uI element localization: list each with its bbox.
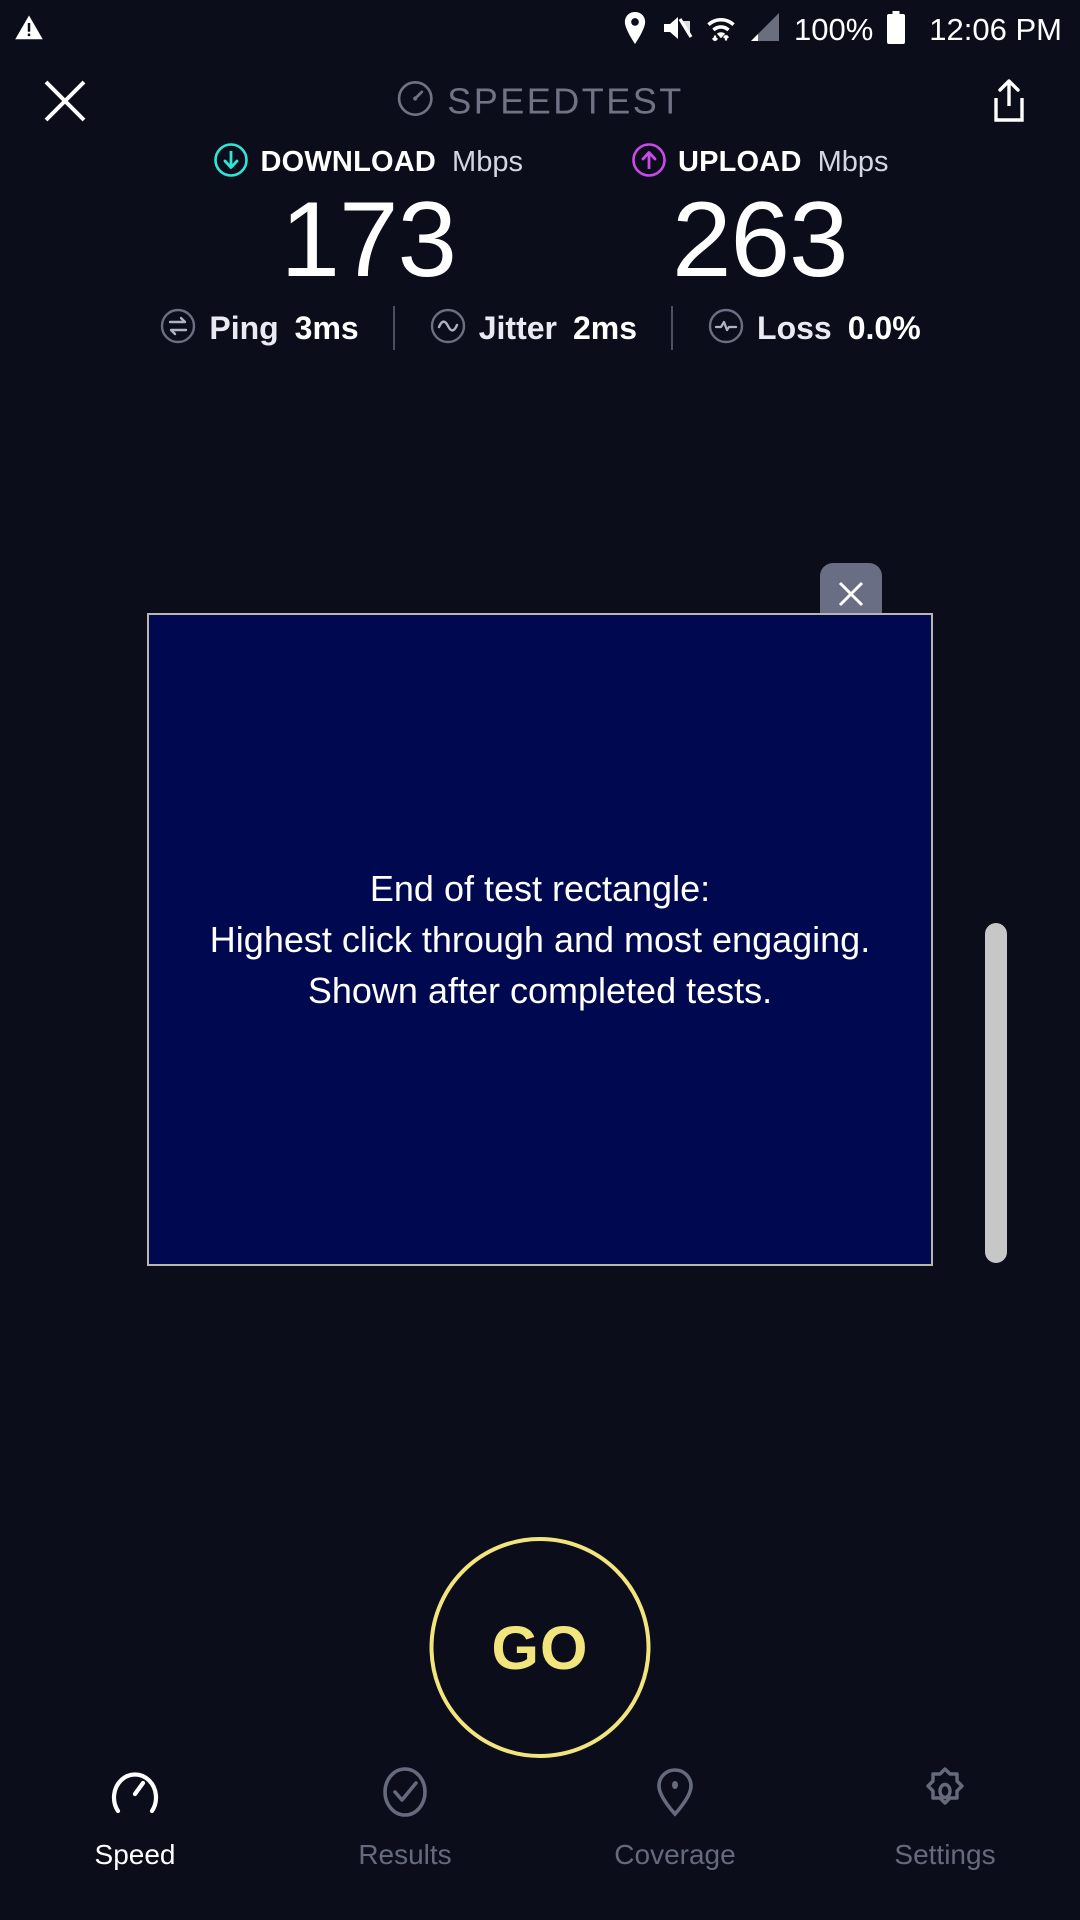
upload-arrow-icon xyxy=(631,142,667,183)
ad-banner[interactable]: End of test rectangle: Highest click thr… xyxy=(147,613,933,1266)
status-bar-left xyxy=(14,13,44,48)
download-unit: Mbps xyxy=(452,146,523,179)
download-result: DOWNLOAD Mbps 173 xyxy=(213,142,523,294)
loss-metric: Loss 0.0% xyxy=(673,307,955,350)
battery-full-icon xyxy=(886,11,906,50)
close-icon xyxy=(42,78,88,124)
network-metrics-row: Ping 3ms Jitter 2ms xyxy=(0,306,1080,350)
app-title-group: SPEEDTEST xyxy=(396,80,684,123)
nav-label-coverage: Coverage xyxy=(614,1839,735,1871)
wifi-icon xyxy=(706,12,736,49)
location-pin-icon xyxy=(622,12,648,49)
nav-item-coverage[interactable]: Coverage xyxy=(540,1764,810,1871)
nav-item-speed[interactable]: Speed xyxy=(0,1764,270,1871)
status-bar: 100% 12:06 PM xyxy=(0,0,1080,60)
page-title: SPEEDTEST xyxy=(447,80,684,122)
loss-label: Loss xyxy=(757,310,832,347)
close-icon xyxy=(834,577,868,611)
gear-icon xyxy=(917,1764,973,1825)
go-button-label: GO xyxy=(492,1613,589,1683)
speedometer-icon xyxy=(396,80,434,123)
location-pin-icon xyxy=(647,1764,703,1825)
scrollbar[interactable] xyxy=(985,923,1007,1263)
results-panel: DOWNLOAD Mbps 173 UPLOAD Mbps xyxy=(0,142,1080,350)
download-header: DOWNLOAD Mbps xyxy=(213,142,523,183)
nav-label-settings: Settings xyxy=(894,1839,995,1871)
status-bar-right: 100% 12:06 PM xyxy=(622,11,1062,50)
cellular-signal-icon xyxy=(749,12,781,48)
ping-metric: Ping 3ms xyxy=(125,307,392,350)
share-button[interactable] xyxy=(984,74,1034,128)
warning-triangle-icon xyxy=(14,13,44,48)
jitter-value: 2ms xyxy=(573,310,637,347)
advertisement-container: End of test rectangle: Highest click thr… xyxy=(147,613,933,1266)
upload-header: UPLOAD Mbps xyxy=(631,142,889,183)
nav-label-results: Results xyxy=(358,1839,451,1871)
download-label: DOWNLOAD xyxy=(260,146,436,179)
download-value: 173 xyxy=(280,185,456,294)
jitter-label: Jitter xyxy=(479,310,557,347)
ping-value: 3ms xyxy=(295,310,359,347)
loss-value: 0.0% xyxy=(848,310,921,347)
speaker-mute-icon xyxy=(661,13,693,48)
loss-icon xyxy=(707,307,745,350)
ping-icon xyxy=(159,307,197,350)
app-header: SPEEDTEST xyxy=(0,60,1080,142)
jitter-icon xyxy=(429,307,467,350)
speedtest-app-screen: 100% 12:06 PM SP xyxy=(0,0,1080,1920)
go-button[interactable]: GO xyxy=(430,1537,651,1758)
bottom-navigation-bar: Speed Results Coverage xyxy=(0,1742,1080,1920)
check-circle-icon xyxy=(377,1764,433,1825)
nav-label-speed: Speed xyxy=(95,1839,176,1871)
share-icon xyxy=(989,78,1029,124)
nav-item-results[interactable]: Results xyxy=(270,1764,540,1871)
download-arrow-icon xyxy=(213,142,249,183)
upload-result: UPLOAD Mbps 263 xyxy=(631,142,889,294)
battery-percent-label: 100% xyxy=(794,12,873,48)
rate-row: DOWNLOAD Mbps 173 UPLOAD Mbps xyxy=(0,142,1080,294)
upload-label: UPLOAD xyxy=(678,146,802,179)
ping-label: Ping xyxy=(209,310,278,347)
ad-text: End of test rectangle: Highest click thr… xyxy=(196,863,884,1016)
close-button[interactable] xyxy=(38,74,92,128)
upload-unit: Mbps xyxy=(818,146,889,179)
status-bar-clock: 12:06 PM xyxy=(929,12,1062,48)
speedometer-icon xyxy=(107,1764,163,1825)
jitter-metric: Jitter 2ms xyxy=(395,307,671,350)
upload-value: 263 xyxy=(672,185,848,294)
nav-item-settings[interactable]: Settings xyxy=(810,1764,1080,1871)
